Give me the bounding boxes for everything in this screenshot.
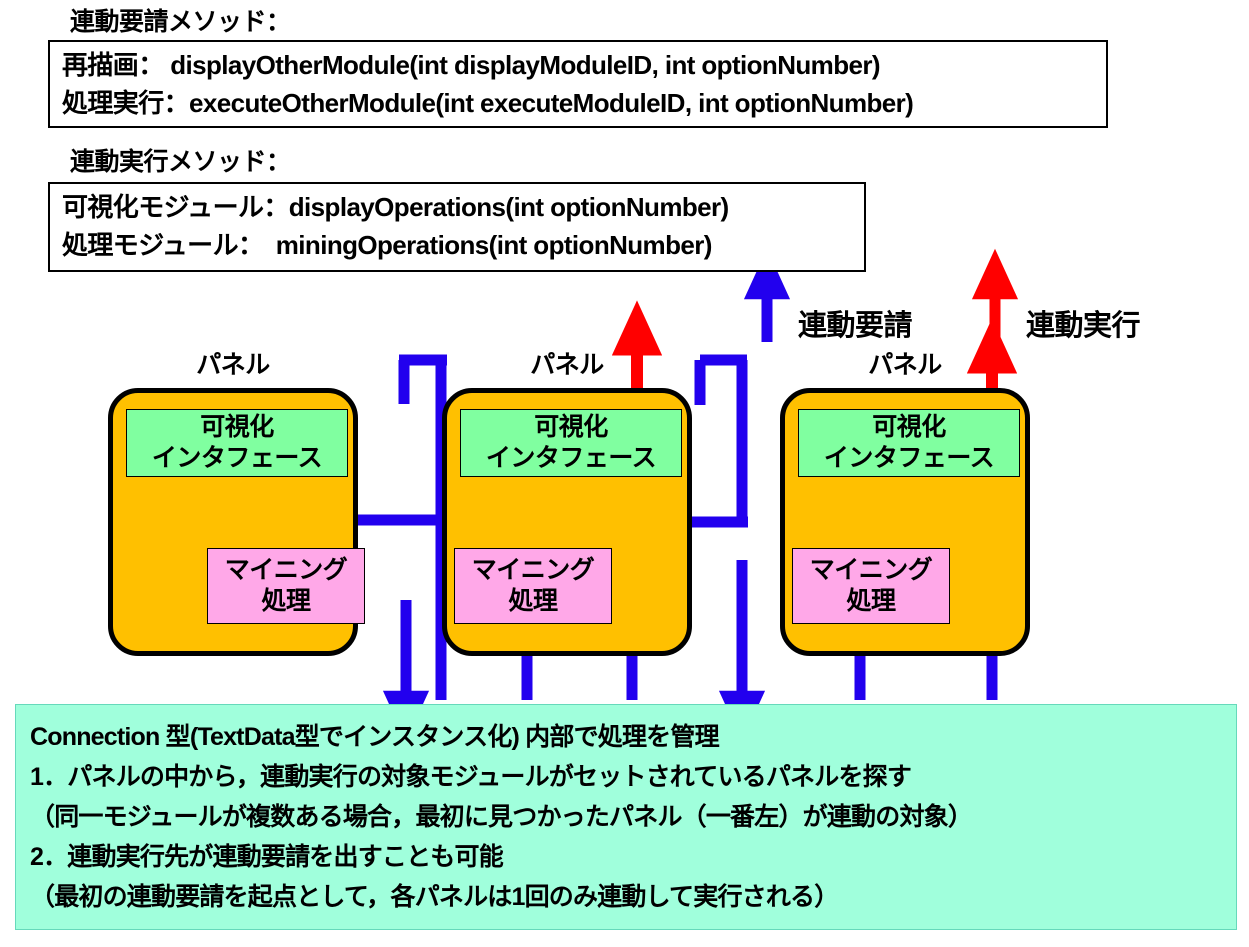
request-methods-box: 再描画： displayOtherModule(int displayModul… [48,40,1108,128]
panel-3-mining-line-1: マイニング [810,555,933,586]
panel-label-3: パネル [780,345,1030,381]
request-methods-caption: 連動要請メソッド： [70,2,291,38]
panel-3-vis-line-2: インタフェース [824,443,994,474]
legend-label-request: 連動要請 [798,302,912,344]
note-line-1: Connection 型(TextData型でインスタンス化) 内部で処理を管理 [30,717,1222,757]
panel-2-vis-line-2: インタフェース [486,443,656,474]
note-line-4: 2．連動実行先が連動要請を出すことも可能 [30,837,1222,877]
panel-2-mining-line-1: マイニング [472,555,595,586]
request-path-panel1-vis [399,360,447,700]
panel-label-1: パネル [108,345,358,381]
panel-2-visualization-module[interactable]: 可視化 インタフェース [460,409,682,477]
panel-3-vis-line-1: 可視化 [872,412,946,443]
panel-label-2: パネル [442,345,692,381]
panel-1-mining-line-1: マイニング [225,555,348,586]
panel-2-vis-line-1: 可視化 [534,412,608,443]
request-method-line-2: 処理実行：executeOtherModule(int executeModul… [62,84,1096,122]
panel-1-visualization-module[interactable]: 可視化 インタフェース [126,409,348,477]
panel-3-mining-line-2: 処理 [846,586,895,617]
panel-1-vis-line-2: インタフェース [152,443,322,474]
panel-1-mining-line-2: 処理 [261,586,310,617]
panel-1-vis-line-1: 可視化 [200,412,274,443]
note-line-2: 1．パネルの中から，連動実行の対象モジュールがセットされているパネルを探す [30,757,1222,797]
panel-2-mining-line-2: 処理 [508,586,557,617]
exec-method-line-2: 処理モジュール： miningOperations(int optionNumb… [62,226,854,264]
exec-methods-box: 可視化モジュール：displayOperations(int optionNum… [48,182,866,272]
panel-3-mining-module[interactable]: マイニング 処理 [792,548,950,624]
panel-1-mining-module[interactable]: マイニング 処理 [207,548,365,624]
panel-2[interactable]: 可視化 インタフェース マイニング 処理 [442,388,692,656]
panel-2-mining-module[interactable]: マイニング 処理 [454,548,612,624]
note-line-5: （最初の連動要請を起点として，各パネルは1回のみ連動して実行される） [30,877,1222,917]
legend-label-exec: 連動実行 [1026,302,1140,344]
panel-1[interactable]: 可視化 インタフェース マイニング 処理 [108,388,358,656]
panel-3-visualization-module[interactable]: 可視化 インタフェース [798,409,1020,477]
exec-method-line-1: 可視化モジュール：displayOperations(int optionNum… [62,188,854,226]
panel-3[interactable]: 可視化 インタフェース マイニング 処理 [780,388,1030,656]
request-method-line-1: 再描画： displayOtherModule(int displayModul… [62,46,1096,84]
note-line-3: （同一モジュールが複数ある場合，最初に見つかったパネル（一番左）が連動の対象） [30,797,1222,837]
exec-methods-caption: 連動実行メソッド： [70,142,291,178]
connection-note-box: Connection 型(TextData型でインスタンス化) 内部で処理を管理… [15,704,1237,930]
